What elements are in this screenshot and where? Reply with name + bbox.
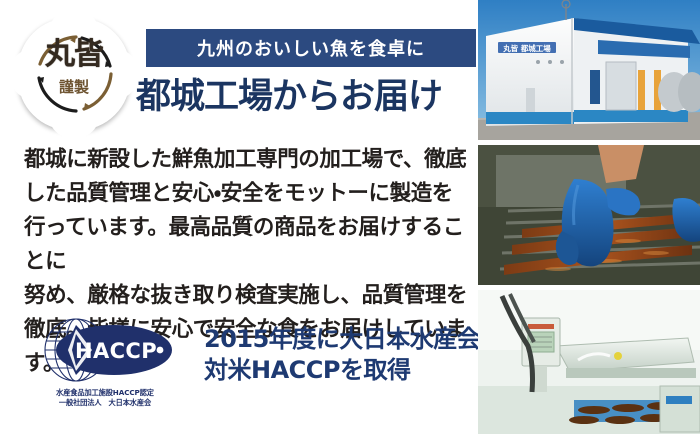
description-line-3: 行っています。最高品質の商品をお届けすることに (24, 211, 476, 279)
photo-factory-exterior: 丸皆 都城工場 (478, 0, 700, 140)
tagline-banner: 九州のおいしい魚を食卓に (146, 29, 476, 67)
haccp-statement-line-1: 2015年度に大日本水産会の (204, 324, 478, 355)
photo-strip: 丸皆 都城工場 (478, 0, 700, 434)
haccp-caption: 水産食品加工施設HACCP認定 一般社団法人 大日本水産会 (30, 388, 180, 408)
description-line-1: 都城に新設した鮮魚加工専門の加工場で、徹底 (24, 143, 476, 177)
svg-text:HACCP: HACCP (75, 339, 157, 363)
tagline-text: 九州のおいしい魚を食卓に (146, 35, 476, 61)
promo-image-root: 丸皆 謹製 九州のおいしい魚を食卓に 都城工場からお届け 都城に新設した鮮魚加工… (0, 0, 700, 434)
photo-eel-grilling (478, 145, 700, 285)
brand-seal-logo: 丸皆 謹製 (18, 18, 130, 130)
svg-text:丸皆 都城工場: 丸皆 都城工場 (502, 43, 551, 53)
haccp-statement: 2015年度に大日本水産会の 対米HACCPを取得 (204, 324, 478, 386)
seal-brand-name: 丸皆 (18, 40, 130, 70)
seal-kinsei-label: 謹製 (18, 80, 130, 95)
description-line-2: した品質管理と安心・安全をモットーに製造を (24, 177, 476, 211)
haccp-caption-line-2: 一般社団法人 大日本水産会 (30, 398, 180, 408)
haccp-caption-line-1: 水産食品加工施設HACCP認定 (30, 388, 180, 398)
page-title: 都城工場からお届け (136, 72, 486, 122)
haccp-logo: HACCP 水産食品加工施設HACCP認定 一般社団法人 大日本水産会 (30, 312, 180, 420)
photo-packaging-line (478, 290, 700, 434)
haccp-statement-line-2: 対米HACCPを取得 (204, 355, 478, 386)
left-content-column: 丸皆 謹製 九州のおいしい魚を食卓に 都城工場からお届け 都城に新設した鮮魚加工… (0, 0, 478, 434)
haccp-globe-fish-icon: HACCP (30, 312, 180, 388)
description-line-4: 努め、厳格な抜き取り検査実施し、品質管理を (24, 279, 476, 313)
haccp-certification-block: HACCP 水産食品加工施設HACCP認定 一般社団法人 大日本水産会 2015… (22, 310, 478, 422)
